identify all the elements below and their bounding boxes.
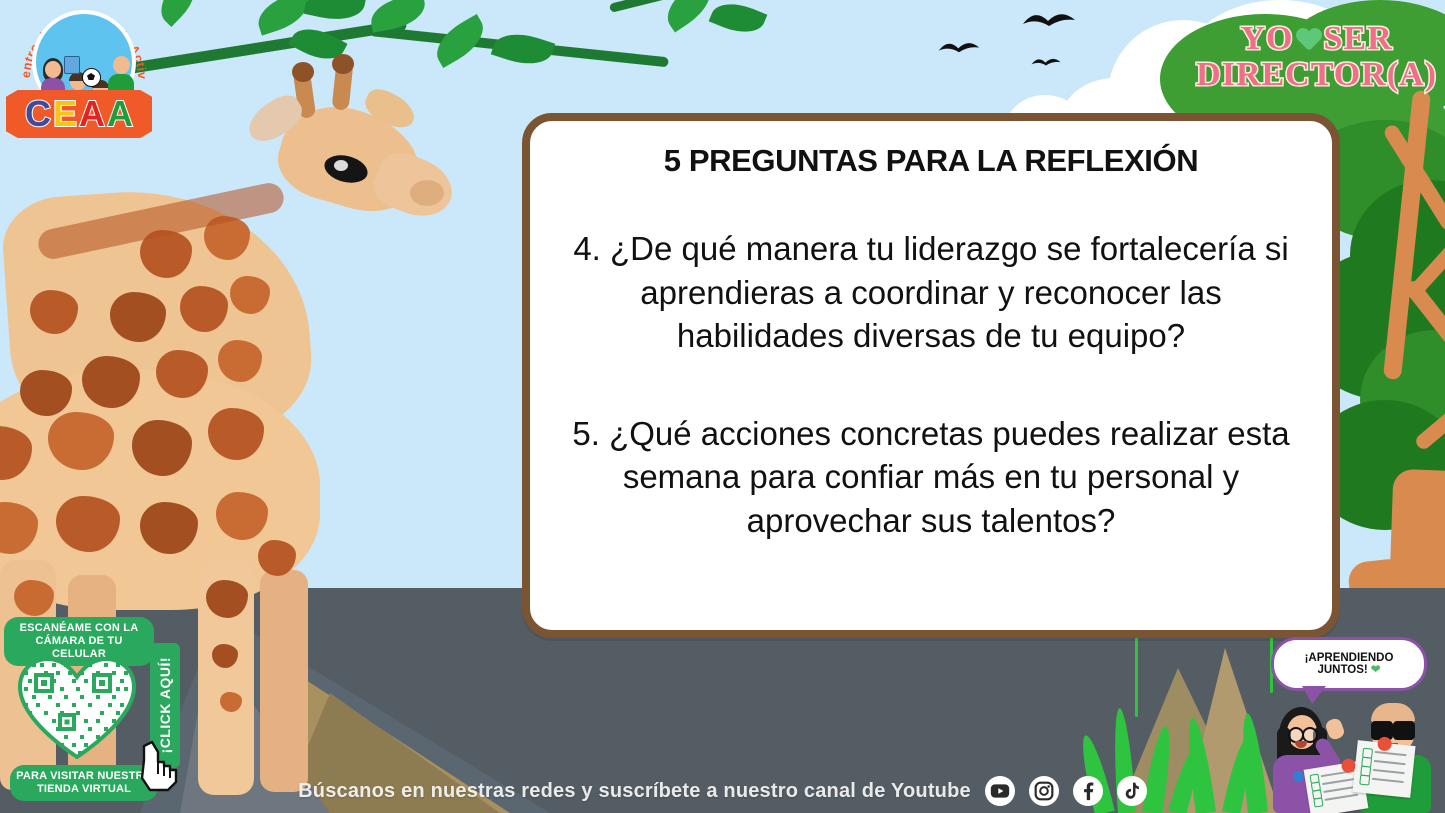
tiktok-icon[interactable] bbox=[1117, 776, 1147, 806]
heart-icon bbox=[1296, 28, 1322, 52]
logo-letter-e: E bbox=[53, 96, 77, 132]
badge-line-2: DIRECTOR(A) bbox=[1196, 58, 1437, 92]
green-heart-icon: ❤ bbox=[1371, 664, 1381, 676]
ceaa-logo[interactable]: Centro de Aprendizaje Activo bbox=[4, 2, 154, 142]
card-title: 5 PREGUNTAS PARA LA REFLEXIÓN bbox=[556, 143, 1306, 179]
badge-word-yo: YO bbox=[1241, 20, 1294, 57]
bubble-line-1: ¡APRENDIENDO bbox=[1305, 652, 1394, 664]
instagram-icon[interactable] bbox=[1029, 776, 1059, 806]
badge-word-ser: SER bbox=[1324, 20, 1393, 57]
logo-letter-a1: A bbox=[79, 96, 105, 132]
poster-canvas: Centro de Aprendizaje Activo bbox=[0, 0, 1445, 813]
question-4-text: 4. ¿De qué manera tu liderazgo se fortal… bbox=[556, 227, 1306, 358]
logo-letter-c: C bbox=[25, 96, 51, 132]
question-5-text: 5. ¿Qué acciones concretas puedes realiz… bbox=[556, 412, 1306, 543]
reflection-card: 5 PREGUNTAS PARA LA REFLEXIÓN 4. ¿De qué… bbox=[522, 113, 1340, 638]
yo-ser-director-badge: YOSER DIRECTOR(A) bbox=[1196, 22, 1437, 92]
youtube-icon[interactable] bbox=[985, 776, 1015, 806]
social-bar: Búscanos en nuestras redes y suscríbete … bbox=[0, 769, 1445, 813]
social-bar-text: Búscanos en nuestras redes y suscríbete … bbox=[298, 780, 971, 803]
qr-code-heart[interactable] bbox=[18, 657, 136, 761]
logo-ribbon: C E A A bbox=[6, 90, 152, 138]
bubble-line-2: JUNTOS! ❤ bbox=[1317, 664, 1380, 676]
badge-line-1: YOSER bbox=[1196, 22, 1437, 56]
logo-letter-a2: A bbox=[107, 96, 133, 132]
bubble-line-2-text: JUNTOS! bbox=[1317, 664, 1367, 676]
speech-bubble: ¡APRENDIENDO JUNTOS! ❤ bbox=[1271, 637, 1427, 691]
facebook-icon[interactable] bbox=[1073, 776, 1103, 806]
